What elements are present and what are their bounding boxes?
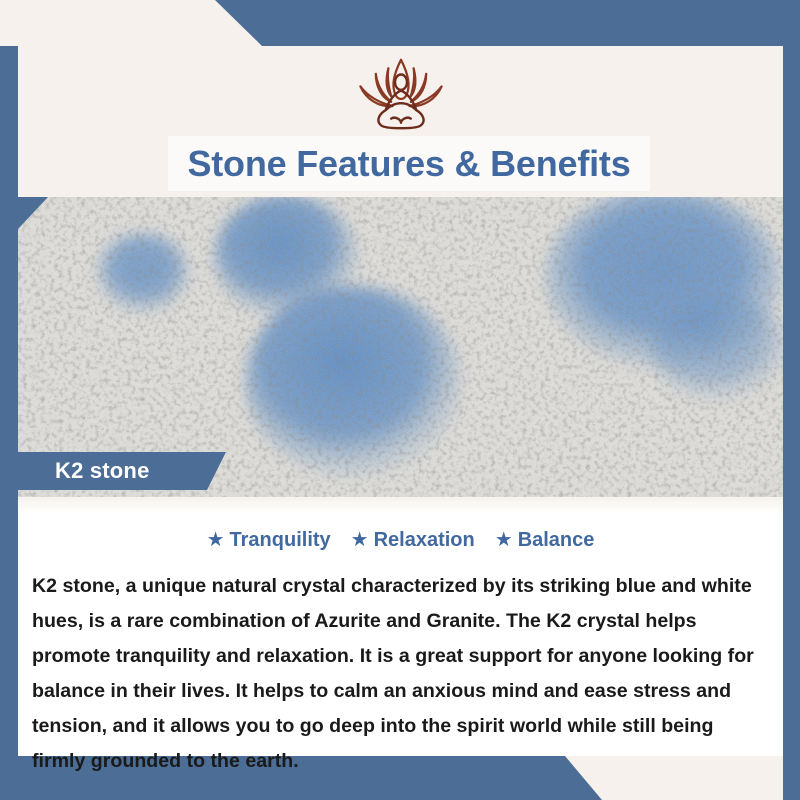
feature-item: ★ Tranquility xyxy=(207,529,331,552)
top-accent-band xyxy=(0,0,800,46)
feature-label: Balance xyxy=(518,529,595,552)
left-accent-strip xyxy=(0,46,18,800)
feature-label: Tranquility xyxy=(230,529,331,552)
stone-name-badge: K2 stone xyxy=(18,452,226,490)
poster-root: BUDDHA STONES Stone Features & Benefits xyxy=(0,0,800,800)
panel-top-fade xyxy=(18,497,783,513)
content-panel: ★ Tranquility ★ Relaxation ★ Balance K2 … xyxy=(18,497,783,756)
feature-list: ★ Tranquility ★ Relaxation ★ Balance xyxy=(18,529,783,552)
right-accent-strip xyxy=(783,0,800,800)
description-paragraph: K2 stone, a unique natural crystal chara… xyxy=(32,569,761,779)
feature-item: ★ Relaxation xyxy=(351,529,475,552)
feature-item: ★ Balance xyxy=(495,529,595,552)
lotus-meditation-icon xyxy=(345,50,457,134)
stone-photo: K2 stone xyxy=(18,197,783,497)
page-title: Stone Features & Benefits xyxy=(187,143,630,185)
star-icon: ★ xyxy=(351,530,369,550)
title-banner: Stone Features & Benefits xyxy=(168,136,650,191)
star-icon: ★ xyxy=(495,530,513,550)
header: BUDDHA STONES Stone Features & Benefits xyxy=(18,46,783,197)
star-icon: ★ xyxy=(207,530,225,550)
feature-label: Relaxation xyxy=(374,529,475,552)
stone-name-label: K2 stone xyxy=(55,458,150,484)
